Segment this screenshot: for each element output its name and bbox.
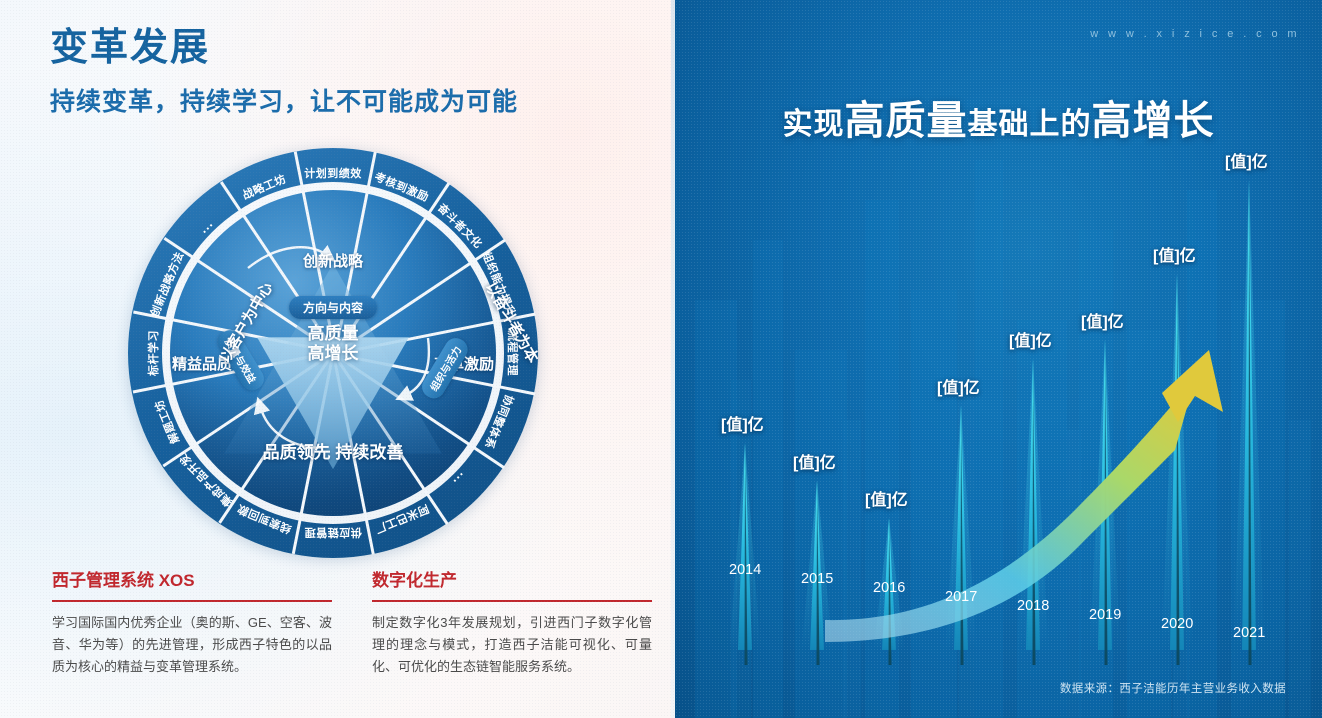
core-slogan: 品质领先 持续改善 [263,438,404,463]
value-label-2017: [值]亿 [937,374,980,398]
ring-label-2[interactable]: 计划到绩效 [304,165,362,181]
x-tick-2019: 2019 [1089,607,1121,623]
column-rule [52,600,332,602]
ring-label-9[interactable]: 供应链管理 [304,525,362,541]
column-body: 学习国际国内优秀企业（奥的斯、GE、空客、波音、华为等）的先进管理，形成西子特色… [52,612,332,679]
column-digital: 数字化生产 制定数字化3年发展规划，引进西门子数字化管理的理念与模式，打造西子洁… [372,566,652,679]
core-center-label: 高质量 高增长 [308,324,359,364]
chart-title-part-0: 实现 [783,108,845,141]
chart-title-part-3: 高增长 [1092,99,1215,143]
data-source-note: 数据来源：西子洁能历年主营业务收入数据 [1060,680,1286,696]
x-tick-2018: 2018 [1017,598,1049,614]
value-label-2016: [值]亿 [865,486,908,510]
value-label-2020: [值]亿 [1153,242,1196,266]
page-subtitle: 持续变革，持续学习，让不可能成为可能 [50,82,518,118]
value-label-2014: [值]亿 [721,411,764,435]
page-title: 变革发展 [50,28,210,70]
core-apex-label: 创新战略 [303,250,363,271]
bottom-columns: 西子管理系统 XOS 学习国际国内优秀企业（奥的斯、GE、空客、波音、华为等）的… [52,566,652,679]
x-tick-2016: 2016 [873,580,905,596]
column-rule [372,600,652,602]
value-label-2019: [值]亿 [1081,308,1124,332]
website-url: w w w . x i z i c e . c o m [1090,28,1300,40]
right-panel: w w w . x i z i c e . c o m 实现高质量基础上的高增长 [675,0,1322,718]
revenue-spike-chart [675,150,1322,670]
xos-circular-diagram: 创新战略方法...战略工坊计划到绩效考核到激励奋斗者文化组织能力提升流程管理协同… [128,148,538,558]
core-center-line1: 高质量 [308,324,359,344]
left-panel: 变革发展 持续变革，持续学习，让不可能成为可能 创新战略方法...战略工坊计划到… [0,0,675,718]
core-center-line2: 高增长 [308,344,359,364]
x-tick-2015: 2015 [801,571,833,587]
chart-title: 实现高质量基础上的高增长 [675,88,1322,146]
value-label-2018: [值]亿 [1009,327,1052,351]
ring-label-13[interactable]: 标杆学习 [145,330,161,376]
x-tick-2021: 2021 [1233,625,1265,641]
chart-title-part-1: 高质量 [845,99,968,143]
column-heading: 西子管理系统 XOS [52,566,332,591]
x-tick-2020: 2020 [1161,616,1193,632]
value-label-2015: [值]亿 [793,449,836,473]
value-label-2021: [值]亿 [1225,148,1268,172]
column-body: 制定数字化3年发展规划，引进西门子数字化管理的理念与模式，打造西子洁能可视化、可… [372,612,652,679]
column-heading: 数字化生产 [372,566,652,591]
chart-title-part-2: 基础上的 [968,108,1092,141]
core-direction-pill: 方向与内容 [289,296,377,319]
x-tick-2014: 2014 [729,562,761,578]
column-xos: 西子管理系统 XOS 学习国际国内优秀企业（奥的斯、GE、空客、波音、华为等）的… [52,566,332,679]
x-tick-2017: 2017 [945,589,977,605]
